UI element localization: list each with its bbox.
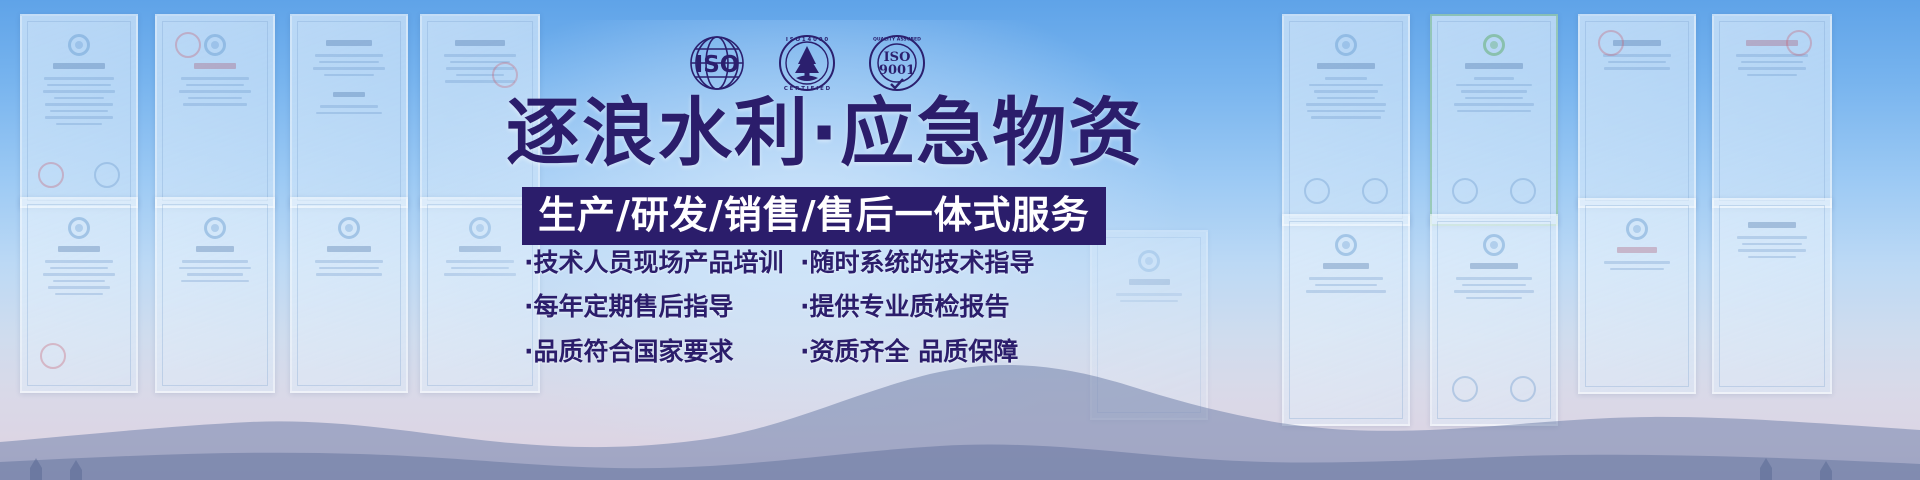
banner-headline: 逐浪水利·应急物资 bbox=[506, 96, 1144, 170]
iso-9001-badge: ISO 9001 QUALITY ASSURED bbox=[866, 32, 928, 98]
bullet-row: ·技术人员现场产品培训 ·随时系统的技术指导 bbox=[524, 247, 1070, 278]
bullet-row: ·品质符合国家要求 ·资质齐全 品质保障 bbox=[524, 336, 1070, 367]
promo-banner: ISO I S O 1 4 0 0 0 C E R T I F I E D bbox=[0, 0, 1920, 480]
svg-text:I S O 1 4 0 0 0: I S O 1 4 0 0 0 bbox=[786, 37, 829, 43]
feature-bullet-list: ·技术人员现场产品培训 ·随时系统的技术指导 ·每年定期售后指导 ·提供专业质检… bbox=[524, 247, 1070, 380]
certificate-thumbnail bbox=[20, 14, 138, 208]
bullet-item: ·提供专业质检报告 bbox=[800, 291, 1010, 322]
iso-14000-badge: I S O 1 4 0 0 0 C E R T I F I E D bbox=[776, 32, 838, 98]
certificate-thumbnail bbox=[1712, 14, 1832, 208]
certification-badges: ISO I S O 1 4 0 0 0 C E R T I F I E D bbox=[686, 32, 928, 98]
bullet-item: ·随时系统的技术指导 bbox=[800, 247, 1035, 278]
certificate-thumbnail bbox=[1430, 14, 1558, 226]
iso-9001-bottom-label: 9001 bbox=[879, 63, 915, 78]
bullet-item: ·每年定期售后指导 bbox=[524, 291, 800, 322]
iso-globe-label: ISO bbox=[695, 52, 740, 78]
banner-subtitle-bar: 生产/研发/销售/售后一体式服务 bbox=[522, 187, 1106, 245]
certificate-thumbnail bbox=[290, 14, 408, 208]
bullet-item: ·品质符合国家要求 bbox=[524, 336, 800, 367]
certificate-thumbnail bbox=[1578, 14, 1696, 208]
bullet-item: ·技术人员现场产品培训 bbox=[524, 247, 800, 278]
iso-globe-badge: ISO bbox=[686, 32, 748, 98]
certificate-thumbnail bbox=[1282, 14, 1410, 226]
iso-9001-ring-label: QUALITY ASSURED bbox=[873, 37, 921, 43]
certificate-thumbnail bbox=[155, 14, 275, 208]
bullet-row: ·每年定期售后指导 ·提供专业质检报告 bbox=[524, 291, 1070, 322]
bullet-item: ·资质齐全 品质保障 bbox=[800, 336, 1018, 367]
